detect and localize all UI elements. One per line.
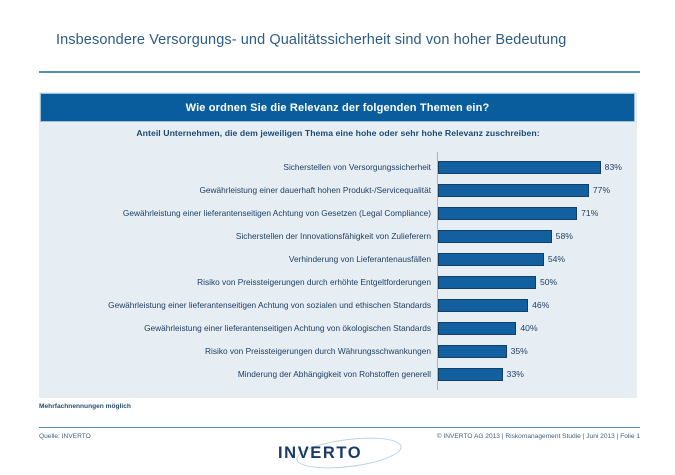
bar-category-label: Risiko von Preissteigerungen durch erhöh… — [39, 271, 431, 294]
bar-fill — [438, 276, 536, 289]
bar-track: 46% — [438, 299, 528, 312]
bar-value-label: 83% — [605, 161, 622, 174]
bar-row: Risiko von Preissteigerungen durch erhöh… — [39, 271, 637, 294]
bar-track: 50% — [438, 276, 536, 289]
chart-footnote: Mehrfachnennungen möglich — [39, 403, 131, 410]
bar-fill — [438, 161, 601, 174]
bar-track: 40% — [438, 322, 516, 335]
chart-subtitle: Anteil Unternehmen, die dem jeweiligen T… — [39, 128, 637, 138]
bar-category-label: Gewährleistung einer lieferantenseitigen… — [39, 202, 431, 225]
chart-panel: Wie ordnen Sie die Relevanz der folgende… — [39, 92, 637, 398]
bar-row: Sicherstellen von Versorgungssicherheit8… — [39, 156, 637, 179]
bar-value-label: 71% — [581, 207, 598, 220]
footer-divider — [39, 427, 640, 428]
bar-category-label: Risiko von Preissteigerungen durch Währu… — [39, 340, 431, 363]
bar-value-label: 58% — [556, 230, 573, 243]
bar-chart-plot-area: Sicherstellen von Versorgungssicherheit8… — [39, 152, 637, 392]
bar-value-label: 33% — [507, 368, 524, 381]
bar-track: 77% — [438, 184, 589, 197]
bar-row: Gewährleistung einer lieferantenseitigen… — [39, 202, 637, 225]
bar-fill — [438, 230, 552, 243]
bar-value-label: 40% — [520, 322, 537, 335]
bar-track: 33% — [438, 368, 503, 381]
page-title: Insbesondere Versorgungs- und Qualitätss… — [56, 32, 566, 48]
bar-row: Risiko von Preissteigerungen durch Währu… — [39, 340, 637, 363]
bar-value-label: 54% — [548, 253, 565, 266]
bar-row: Minderung der Abhängigkeit von Rohstoffe… — [39, 363, 637, 386]
bar-track: 71% — [438, 207, 577, 220]
bar-fill — [438, 322, 516, 335]
bar-track: 83% — [438, 161, 601, 174]
bar-category-label: Gewährleistung einer lieferantenseitigen… — [39, 294, 431, 317]
bar-category-label: Verhinderung von Lieferantenausfällen — [39, 248, 431, 271]
bar-fill — [438, 207, 577, 220]
bar-row: Sicherstellen der Innovationsfähigkeit v… — [39, 225, 637, 248]
bar-row: Verhinderung von Lieferantenausfällen54% — [39, 248, 637, 271]
bar-track: 35% — [438, 345, 507, 358]
bar-row: Gewährleistung einer lieferantenseitigen… — [39, 317, 637, 340]
bar-value-label: 77% — [593, 184, 610, 197]
bar-track: 58% — [438, 230, 552, 243]
copyright-note: © INVERTO AG 2013 | Riskomanagement Stud… — [437, 433, 640, 440]
chart-title: Wie ordnen Sie die Relevanz der folgende… — [186, 102, 490, 114]
bar-value-label: 35% — [511, 345, 528, 358]
inverto-logo: INVERTO — [274, 438, 406, 472]
bar-category-label: Gewährleistung einer lieferantenseitigen… — [39, 317, 431, 340]
bar-category-label: Sicherstellen von Versorgungssicherheit — [39, 156, 431, 179]
bar-row: Gewährleistung einer dauerhaft hohen Pro… — [39, 179, 637, 202]
bar-value-label: 50% — [540, 276, 557, 289]
bar-row: Gewährleistung einer lieferantenseitigen… — [39, 294, 637, 317]
bar-fill — [438, 345, 507, 358]
chart-header-bar: Wie ordnen Sie die Relevanz der folgende… — [40, 93, 635, 122]
bar-track: 54% — [438, 253, 544, 266]
bar-category-label: Gewährleistung einer dauerhaft hohen Pro… — [39, 179, 431, 202]
bar-fill — [438, 368, 503, 381]
bar-fill — [438, 184, 589, 197]
bar-value-label: 46% — [532, 299, 549, 312]
source-note: Quelle: INVERTO — [39, 433, 91, 440]
bar-category-label: Minderung der Abhängigkeit von Rohstoffe… — [39, 363, 431, 386]
logo-wordmark: INVERTO — [278, 444, 362, 463]
title-divider — [39, 71, 640, 73]
bar-category-label: Sicherstellen der Innovationsfähigkeit v… — [39, 225, 431, 248]
bar-fill — [438, 253, 544, 266]
bar-fill — [438, 299, 528, 312]
